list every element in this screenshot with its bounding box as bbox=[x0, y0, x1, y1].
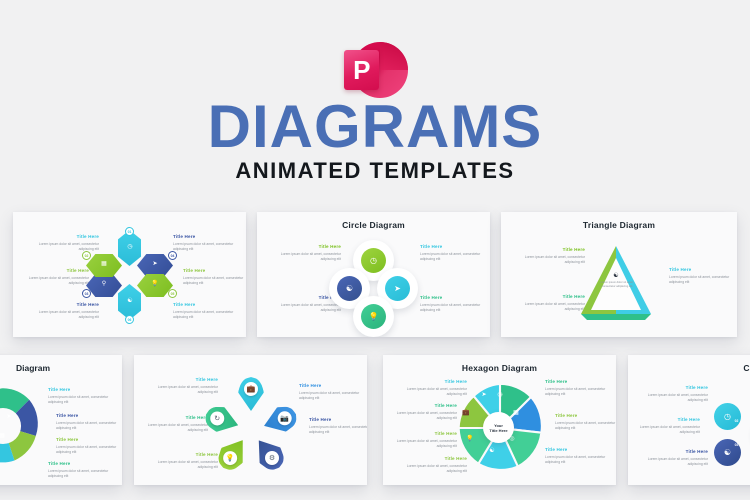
camera-icon: 📷 bbox=[278, 411, 292, 425]
text-title: Title Here bbox=[545, 379, 607, 385]
gear-icon: ⚙ bbox=[265, 451, 279, 465]
text-title: Title Here bbox=[173, 302, 235, 308]
pin-petal[interactable]: 💡 bbox=[213, 433, 254, 476]
people-icon: ☯ bbox=[487, 447, 497, 454]
rocket-icon: ➤ bbox=[479, 391, 489, 398]
text-block: Title Here Lorem ipsum dolor sit amet, c… bbox=[420, 295, 482, 312]
powerpoint-logo-square: P bbox=[344, 50, 379, 90]
text-body: Lorem ipsum dolor sit amet, consectetur … bbox=[37, 310, 99, 319]
slide-preview-canvas: P DIAGRAMS ANIMATED TEMPLATES Title Here… bbox=[0, 0, 750, 500]
text-body: Lorem ipsum dolor sit amet, consectetur … bbox=[37, 242, 99, 251]
text-body: Lorem ipsum dolor sit amet, consectetur … bbox=[56, 445, 118, 454]
powerpoint-logo-letter: P bbox=[344, 50, 379, 90]
text-block: Title Here Lorem ipsum dolor sit amet, c… bbox=[27, 268, 89, 285]
text-block: Title Here Lorem ipsum dolor sit amet, c… bbox=[156, 377, 218, 394]
pin-icon: ⚲ bbox=[97, 280, 111, 287]
text-block: Title Here Lorem ipsum dolor sit amet, c… bbox=[56, 413, 118, 430]
bulb-icon: 💡 bbox=[148, 280, 162, 287]
text-body: Lorem ipsum dolor sit amet, consectetur … bbox=[173, 310, 235, 319]
card-title: Diagram bbox=[0, 363, 122, 373]
rocket-icon: ➤ bbox=[4, 413, 14, 420]
text-block: Title Here Lorem ipsum dolor sit amet, c… bbox=[48, 387, 110, 404]
text-body: Lorem ipsum dolor sit amet, consectetur … bbox=[669, 275, 731, 284]
text-title: Title Here bbox=[156, 377, 218, 383]
text-block: Title Here Lorem ipsum dolor sit amet, c… bbox=[156, 452, 218, 469]
text-body: Lorem ipsum dolor sit amet, consectetur … bbox=[395, 411, 457, 420]
text-block: Title Here Lorem ipsum dolor sit amet, c… bbox=[646, 385, 708, 402]
text-body: Lorem ipsum dolor sit amet, consectetur … bbox=[156, 385, 218, 394]
text-body: Lorem ipsum dolor sit amet, consectetur … bbox=[48, 469, 110, 478]
text-block: Title Here Lorem ipsum dolor sit amet, c… bbox=[555, 413, 616, 430]
text-title: Title Here bbox=[183, 268, 245, 274]
text-body: Lorem ipsum dolor sit amet, consectetur … bbox=[420, 303, 482, 312]
text-body: Lorem ipsum dolor sit amet, consectetur … bbox=[638, 425, 700, 434]
text-block: Title Here Lorem ipsum dolor sit amet, c… bbox=[173, 302, 235, 319]
step-badge[interactable]: 04 bbox=[168, 251, 177, 260]
step-badge[interactable]: 05 bbox=[168, 289, 177, 298]
text-body: Lorem ipsum dolor sit amet, consectetur … bbox=[56, 421, 118, 430]
text-body: Lorem ipsum dolor sit amet, consectetur … bbox=[156, 460, 218, 469]
step-badge[interactable]: 02 bbox=[82, 251, 91, 260]
people-icon: ☯ bbox=[611, 272, 621, 279]
page-title: DIAGRAMS bbox=[0, 95, 750, 159]
page-subtitle: ANIMATED TEMPLATES bbox=[0, 158, 750, 184]
text-title: Title Here bbox=[146, 415, 208, 421]
text-title: Title Here bbox=[545, 447, 607, 453]
hexagon-diagram-card[interactable]: Hexagon Diagram Title Here Lorem ipsum d… bbox=[383, 355, 616, 485]
text-body: Lorem ipsum dolor sit amet, consectetur … bbox=[48, 395, 110, 404]
text-title: Title Here bbox=[27, 268, 89, 274]
text-title: Title Here bbox=[395, 431, 457, 437]
text-block: Title Here Lorem ipsum dolor sit amet, c… bbox=[309, 417, 367, 434]
people-icon: ☯ bbox=[123, 297, 137, 304]
text-block: Title Here Lorem ipsum dolor sit amet, c… bbox=[545, 447, 607, 464]
donut-diagram-card-clipped[interactable]: Diagram ◷ ➤ ▦ ☯ Title Here Lorem ipsum d… bbox=[0, 355, 122, 485]
text-block: Title Here Lorem ipsum dolor sit amet, c… bbox=[395, 431, 457, 448]
text-title: Title Here bbox=[279, 244, 341, 250]
pin-petal[interactable]: 📷 bbox=[260, 402, 301, 438]
text-body: Lorem ipsum dolor sit amet, consectetur … bbox=[146, 423, 208, 432]
donut-graphic[interactable] bbox=[0, 385, 44, 467]
text-block: Title Here Lorem ipsum dolor sit amet, c… bbox=[183, 268, 245, 285]
text-title: Title Here bbox=[56, 437, 118, 443]
text-body: Lorem ipsum dolor sit amet, consectetur … bbox=[309, 425, 367, 434]
text-title: Title Here bbox=[48, 387, 110, 393]
clock-icon: ◷ bbox=[123, 243, 137, 250]
text-block: Title Here Lorem ipsum dolor sit amet, c… bbox=[56, 437, 118, 454]
text-body: Lorem ipsum dolor sit amet, consectetur … bbox=[27, 276, 89, 285]
pin-petal[interactable]: 💼 bbox=[238, 377, 264, 411]
text-title: Title Here bbox=[48, 461, 110, 467]
text-block: Title Here Lorem ipsum dolor sit amet, c… bbox=[646, 449, 708, 466]
bulb-icon: 💡 bbox=[223, 451, 237, 465]
hexagon-center-hub[interactable]: Your Title Here bbox=[483, 412, 514, 443]
text-title: Title Here bbox=[669, 267, 731, 273]
text-block: Title Here Lorem ipsum dolor sit amet, c… bbox=[545, 379, 607, 396]
text-block: Title Here Lorem ipsum dolor sit amet, c… bbox=[420, 244, 482, 261]
card-title: Hexagon Diagram bbox=[383, 363, 616, 373]
text-body: Lorem ipsum dolor sit amet, consectetur … bbox=[555, 421, 616, 430]
text-body: Lorem ipsum dolor sit amet, consectetur … bbox=[545, 387, 607, 396]
text-title: Title Here bbox=[173, 234, 235, 240]
text-block: Title Here Lorem ipsum dolor sit amet, c… bbox=[638, 417, 700, 434]
text-title: Title Here bbox=[646, 449, 708, 455]
text-title: Title Here bbox=[37, 302, 99, 308]
pin-petal[interactable]: ↻ bbox=[202, 402, 242, 437]
clock-icon[interactable]: ◷ bbox=[361, 248, 386, 273]
step-badge[interactable]: 06 bbox=[125, 315, 134, 324]
hero-header: P DIAGRAMS ANIMATED TEMPLATES bbox=[0, 0, 750, 195]
text-block: Title Here Lorem ipsum dolor sit amet, c… bbox=[299, 383, 361, 400]
text-title: Title Here bbox=[37, 234, 99, 240]
text-block: Title Here Lorem ipsum dolor sit amet, c… bbox=[279, 244, 341, 261]
text-body: Lorem ipsum dolor sit amet, consectetur … bbox=[183, 276, 245, 285]
card-title: Circle Dia bbox=[683, 363, 750, 373]
text-body: Lorem ipsum dolor sit amet, consectetur … bbox=[299, 391, 361, 400]
text-title: Title Here bbox=[156, 452, 218, 458]
briefcase-icon: 💼 bbox=[244, 382, 258, 396]
people-icon[interactable]: ☯ bbox=[337, 276, 362, 301]
text-title: Title Here bbox=[555, 413, 616, 419]
step-badge[interactable]: 03 bbox=[732, 441, 741, 450]
rocket-icon[interactable]: ➤ bbox=[385, 276, 410, 301]
text-body: Lorem ipsum dolor sit amet, consectetur … bbox=[646, 393, 708, 402]
text-title: Title Here bbox=[638, 417, 700, 423]
text-body: Lorem ipsum dolor sit amet, consectetur … bbox=[279, 303, 341, 312]
circle-diagram-card-clipped[interactable]: Circle Dia Title Here Lorem ipsum dolor … bbox=[628, 355, 750, 485]
text-title: Title Here bbox=[420, 295, 482, 301]
text-title: Title Here bbox=[420, 244, 482, 250]
clock-icon: ◷ bbox=[495, 391, 505, 398]
pin-petal-card[interactable]: Title Here Lorem ipsum dolor sit amet, c… bbox=[134, 355, 367, 485]
triangle-base-face[interactable] bbox=[581, 314, 651, 320]
hub-line2: Title Here bbox=[489, 428, 507, 433]
step-badge[interactable]: 03 bbox=[82, 289, 91, 298]
text-title: Title Here bbox=[395, 403, 457, 409]
card-title: Triangle Diagram bbox=[501, 220, 737, 230]
text-title: Title Here bbox=[56, 413, 118, 419]
triangle-diagram-card[interactable]: Triangle Diagram Title Here Lorem ipsum … bbox=[501, 212, 737, 337]
bulb-icon[interactable]: 💡 bbox=[361, 304, 386, 329]
text-title: Title Here bbox=[309, 417, 367, 423]
text-block: Title Here Lorem ipsum dolor sit amet, c… bbox=[146, 415, 208, 432]
circle-diagram-card[interactable]: Circle Diagram Title Here Lorem ipsum do… bbox=[257, 212, 490, 337]
briefcase-icon: 💼 bbox=[461, 409, 471, 416]
text-title: Title Here bbox=[299, 383, 361, 389]
triangle-center-text: Lorem ipsum dolor sit amet, consectetur … bbox=[597, 281, 637, 288]
text-block: Title Here Lorem ipsum dolor sit amet, c… bbox=[669, 267, 731, 284]
text-body: Lorem ipsum dolor sit amet, consectetur … bbox=[279, 252, 341, 261]
text-block: Title Here Lorem ipsum dolor sit amet, c… bbox=[395, 403, 457, 420]
text-block: Title Here Lorem ipsum dolor sit amet, c… bbox=[37, 302, 99, 319]
text-block: Title Here Lorem ipsum dolor sit amet, c… bbox=[48, 461, 110, 478]
text-body: Lorem ipsum dolor sit amet, consectetur … bbox=[646, 457, 708, 466]
text-body: Lorem ipsum dolor sit amet, consectetur … bbox=[420, 252, 482, 261]
text-body: Lorem ipsum dolor sit amet, consectetur … bbox=[173, 242, 235, 251]
rocket-icon: ➤ bbox=[148, 260, 162, 267]
chart-icon: ▦ bbox=[511, 409, 521, 416]
refresh-icon: ↻ bbox=[210, 411, 224, 425]
text-body: Lorem ipsum dolor sit amet, consectetur … bbox=[545, 455, 607, 464]
step-badge[interactable]: 02 bbox=[732, 417, 741, 426]
pin-petal[interactable]: ⚙ bbox=[248, 433, 289, 476]
text-body: Lorem ipsum dolor sit amet, consectetur … bbox=[395, 439, 457, 448]
chart-icon: ▦ bbox=[0, 432, 7, 439]
step-badge[interactable]: 01 bbox=[125, 227, 134, 236]
text-block: Title Here Lorem ipsum dolor sit amet, c… bbox=[37, 234, 99, 251]
hexagon-petal-card[interactable]: Title Here Lorem ipsum dolor sit amet, c… bbox=[13, 212, 246, 337]
text-block: Title Here Lorem ipsum dolor sit amet, c… bbox=[173, 234, 235, 251]
bulb-icon: 💡 bbox=[465, 435, 475, 442]
chart-icon: ▦ bbox=[97, 260, 111, 267]
card-title: Circle Diagram bbox=[257, 220, 490, 230]
text-title: Title Here bbox=[646, 385, 708, 391]
